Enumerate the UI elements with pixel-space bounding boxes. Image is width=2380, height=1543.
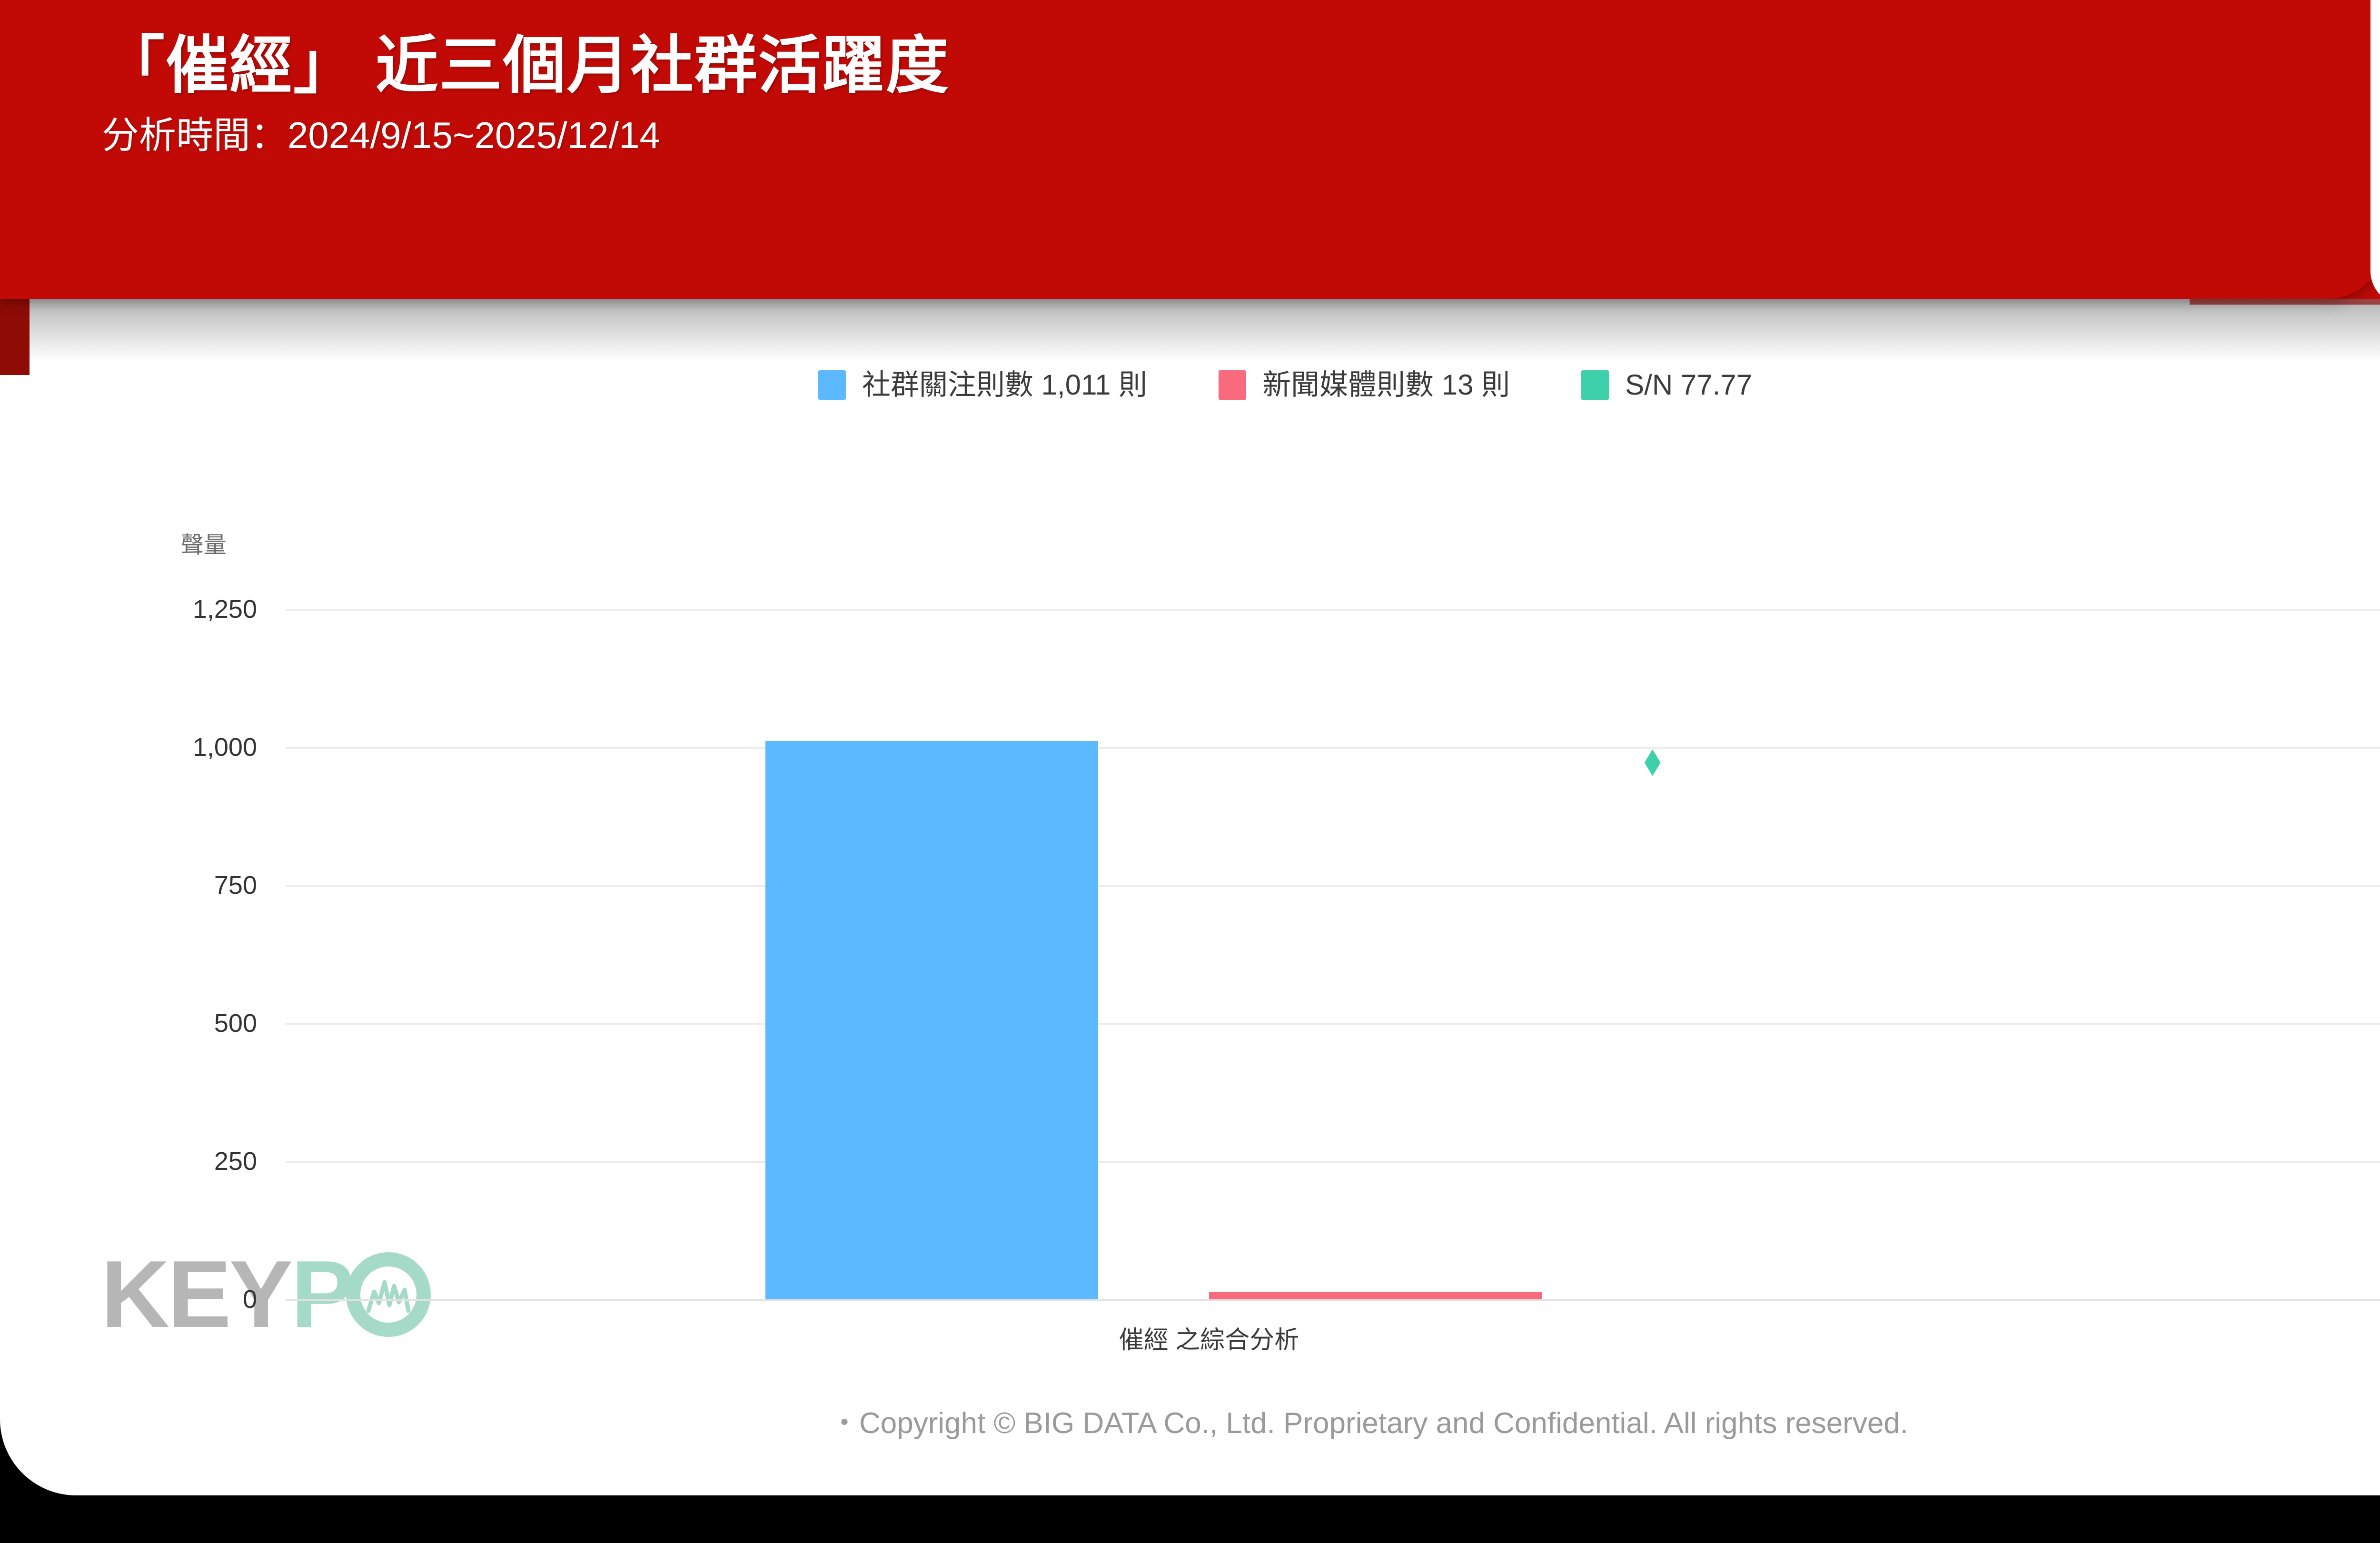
report-card: 「催經」 近三個月社群活躍度 分析時間：2024/9/15~2025/12/14… <box>0 0 2380 1495</box>
legend-label-social: 社群關注則數 1,011 則 <box>862 371 1147 399</box>
chart-legend: 社群關注則數 1,011 則 新聞媒體則數 13 則 S/N 77.77 <box>0 370 2380 400</box>
left-axis-tick: 500 <box>214 1010 257 1036</box>
header-drop-shadow <box>30 299 2380 361</box>
legend-swatch-social-icon <box>818 370 846 400</box>
brand-logo-panel: 網路溫度計 <box>2370 0 2380 305</box>
chart-grid: 1,2501,0007505002500100806040200 <box>286 609 2380 1299</box>
left-axis-tick: 0 <box>243 1286 257 1312</box>
legend-swatch-sn-icon <box>1581 370 1609 400</box>
left-axis-tick: 750 <box>214 872 257 898</box>
legend-item-sn[interactable]: S/N 77.77 <box>1581 370 1752 400</box>
gridline <box>286 885 2380 887</box>
chart-bar-news[interactable] <box>1209 1292 1542 1299</box>
title-block: 「催經」 近三個月社群活躍度 分析時間：2024/9/15~2025/12/14 <box>102 30 950 158</box>
chart-plot-area: 聲量 S/N 1,2501,0007505002500100806040200 … <box>0 500 2380 1337</box>
gridline <box>286 1161 2380 1163</box>
left-axis-tick: 250 <box>214 1148 257 1174</box>
left-axis-tick: 1,000 <box>193 734 257 760</box>
gridline <box>286 1299 2380 1301</box>
gridline <box>286 609 2380 611</box>
page-title: 「催經」 近三個月社群活躍度 <box>102 30 950 101</box>
chart-bar-social[interactable] <box>765 741 1098 1299</box>
sn-diamond-marker[interactable] <box>1645 749 1661 776</box>
legend-item-social[interactable]: 社群關注則數 1,011 則 <box>818 370 1147 400</box>
legend-item-news[interactable]: 新聞媒體則數 13 則 <box>1219 370 1510 400</box>
copyright-footer: ・Copyright © BIG DATA Co., Ltd. Propriet… <box>0 1409 2380 1438</box>
legend-swatch-news-icon <box>1219 370 1246 400</box>
analysis-period-subtitle: 分析時間：2024/9/15~2025/12/14 <box>102 113 950 158</box>
header-left-nub <box>0 299 30 375</box>
gridline <box>286 747 2380 749</box>
left-axis-tick: 1,250 <box>193 596 257 622</box>
gridline <box>286 1023 2380 1025</box>
legend-label-news: 新聞媒體則數 13 則 <box>1262 371 1510 399</box>
x-axis-label: 催經 之綜合分析 <box>0 1328 2380 1353</box>
left-axis-title: 聲量 <box>181 534 227 557</box>
legend-label-sn: S/N 77.77 <box>1625 371 1752 399</box>
